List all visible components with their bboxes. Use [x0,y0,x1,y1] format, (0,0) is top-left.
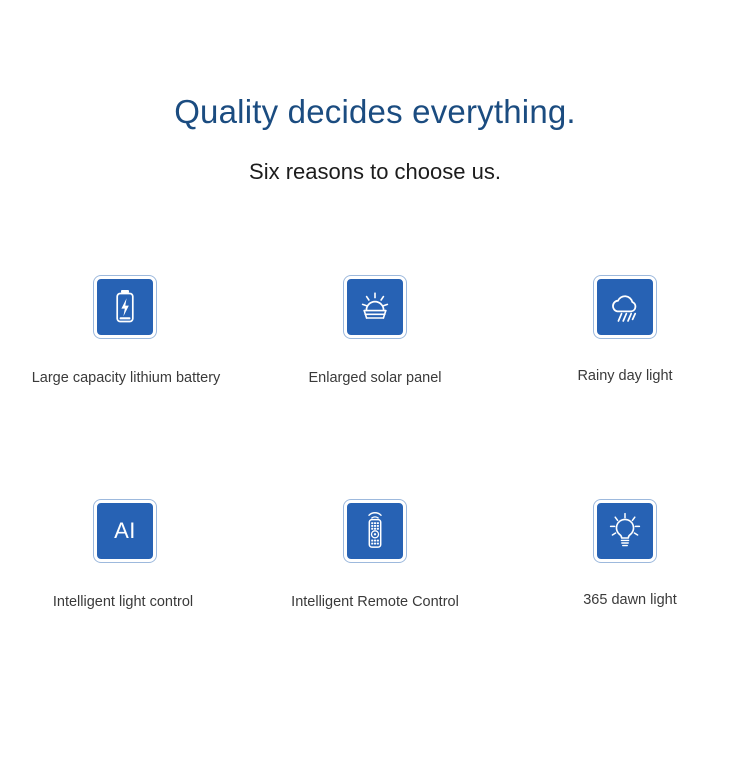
promo-page: Quality decides everything. Six reasons … [0,0,750,759]
heading-block: Quality decides everything. Six reasons … [0,92,750,186]
feature-item-dawn-light[interactable]: 365 dawn light [500,500,750,612]
page-title: Quality decides everything. [0,92,750,132]
feature-row: Large capacity lithium battery [0,276,750,388]
feature-grid: Large capacity lithium battery [0,276,750,612]
light-bulb-icon-tile[interactable] [594,500,656,562]
solar-panel-sun-icon-tile[interactable] [344,276,406,338]
feature-item-ai-light-control[interactable]: AI Intelligent light control [0,500,250,612]
feature-label: 365 dawn light [583,590,677,610]
ai-text-icon-tile[interactable]: AI [94,500,156,562]
feature-label: Enlarged solar panel [308,368,441,388]
feature-label: Intelligent Remote Control [291,592,459,612]
solar-panel-sun-icon [357,289,393,325]
page-subtitle: Six reasons to choose us. [0,132,750,186]
feature-item-remote-control[interactable]: Intelligent Remote Control [250,500,500,612]
feature-item-solar-panel[interactable]: Enlarged solar panel [250,276,500,388]
ai-text-icon: AI [114,520,136,542]
battery-charging-icon-tile[interactable] [94,276,156,338]
feature-item-rainy-day[interactable]: Rainy day light [500,276,750,388]
light-bulb-icon [606,511,644,551]
rain-cloud-icon-tile[interactable] [594,276,656,338]
feature-row: AI Intelligent light control [0,500,750,612]
feature-label: Rainy day light [577,366,672,386]
feature-item-battery[interactable]: Large capacity lithium battery [0,276,250,388]
feature-label: Large capacity lithium battery [32,368,221,388]
remote-control-icon [360,510,390,552]
battery-charging-icon [110,288,140,326]
feature-label: Intelligent light control [53,592,193,612]
rain-cloud-icon [607,290,643,324]
remote-control-icon-tile[interactable] [344,500,406,562]
